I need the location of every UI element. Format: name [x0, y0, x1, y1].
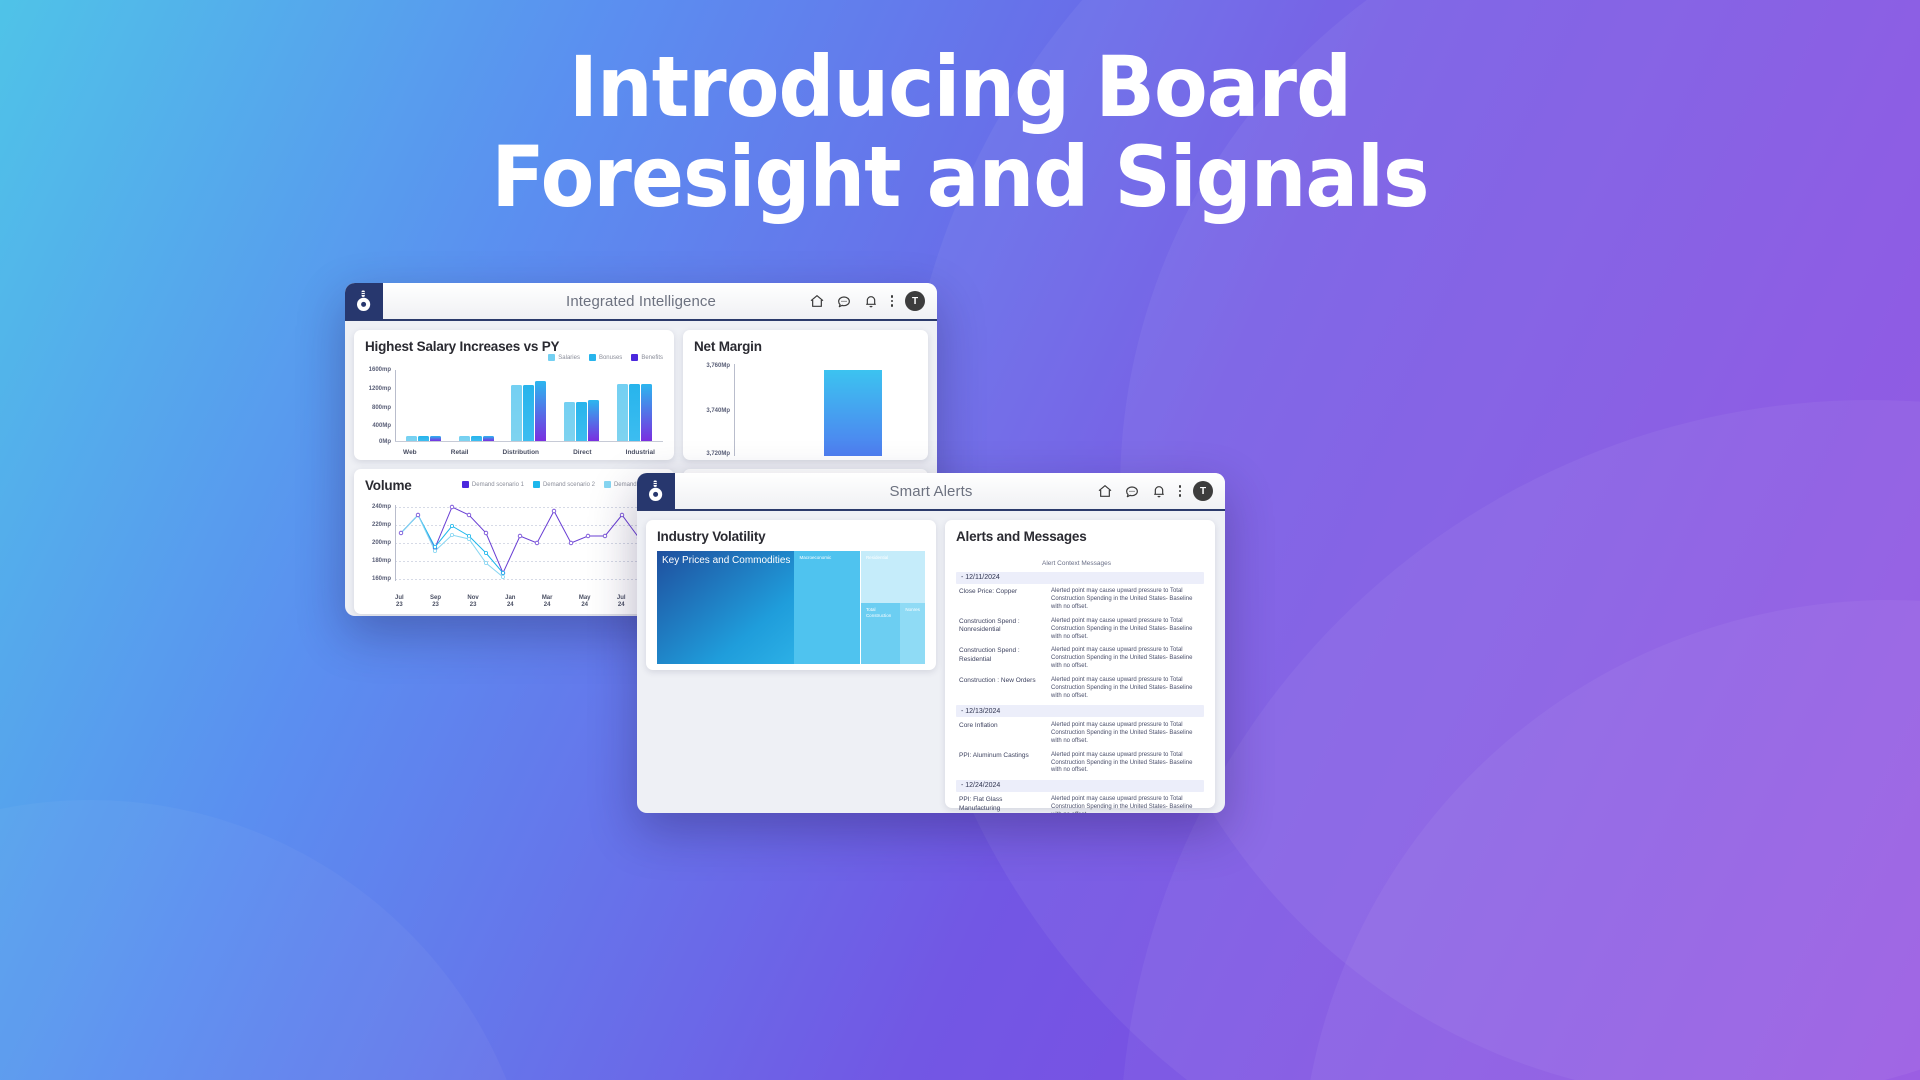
bar-benefits[interactable]: [483, 436, 494, 441]
legend-swatch: [604, 481, 611, 488]
avatar[interactable]: T: [1193, 481, 1213, 501]
titlebar-actions: T: [1097, 481, 1225, 501]
y-tick: 160mp: [372, 576, 391, 582]
table-row[interactable]: Construction Spend : Nonresidential Aler…: [956, 615, 1204, 645]
legend-swatch: [589, 354, 596, 361]
y-tick: 200mp: [372, 540, 391, 546]
overflow-menu-icon[interactable]: [1178, 485, 1182, 497]
alert-message: Alerted point may cause upward pressure …: [1051, 677, 1204, 701]
avatar[interactable]: T: [905, 291, 925, 311]
alert-date-group[interactable]: - 12/11/2024: [956, 572, 1204, 584]
titlebar-actions: T: [809, 291, 937, 311]
alert-name: PPI: Aluminum Castings: [959, 752, 1045, 776]
x-axis-categories: Jul23 Sep23 Nov23 Jan24 Mar24 May24 Jul2…: [395, 595, 663, 609]
y-tick: 1600mp: [369, 367, 391, 373]
home-icon[interactable]: [809, 293, 825, 309]
home-icon[interactable]: [1097, 483, 1113, 499]
y-tick: 400Mp: [372, 423, 391, 429]
alert-message: Alerted point may cause upward pressure …: [1051, 647, 1204, 671]
alert-message: Alerted point may cause upward pressure …: [1051, 618, 1204, 642]
legend-item: Bonuses: [589, 354, 622, 361]
y-axis: 1600mp 1200mp 800mp 400Mp 0Mp: [365, 368, 395, 444]
x-tick: May24: [579, 595, 591, 609]
alert-name: PPI: Flat Glass Manufacturing: [959, 796, 1045, 813]
y-axis: 3,760Mp 3,740Mp 3,720Mp: [694, 362, 734, 456]
bar-bonuses[interactable]: [576, 402, 587, 441]
treemap-label: Total Construction: [866, 607, 900, 618]
bar-group[interactable]: [459, 436, 494, 441]
plot-area: 1600mp 1200mp 800mp 400Mp 0Mp: [365, 368, 663, 444]
y-tick: 0Mp: [379, 439, 391, 445]
legend-swatch: [631, 354, 638, 361]
alert-message: Alerted point may cause upward pressure …: [1051, 752, 1204, 776]
card-title: Net Margin: [694, 339, 917, 354]
page-title: Introducing Board Foresight and Signals: [67, 46, 1853, 219]
treemap-label: Key Prices and Commodities: [662, 555, 790, 567]
x-tick: Web: [403, 449, 417, 456]
bar-bonuses[interactable]: [471, 436, 482, 441]
table-row[interactable]: Construction : New Orders Alerted point …: [956, 674, 1204, 704]
x-tick: Jul24: [617, 595, 626, 609]
bar-group[interactable]: [511, 381, 546, 441]
alert-message: Alerted point may cause upward pressure …: [1051, 722, 1204, 746]
background-swoosh: [1300, 600, 1920, 1080]
legend-item: Demand scenario 2: [533, 481, 595, 488]
alert-message: Alerted point may cause upward pressure …: [1051, 588, 1204, 612]
chart-legend: Demand scenario 1 Demand scenario 2 Dema…: [462, 481, 666, 488]
bar-group[interactable]: [406, 436, 441, 441]
bar-benefits[interactable]: [430, 436, 441, 441]
card-title: Alerts and Messages: [956, 529, 1204, 544]
bar-benefits[interactable]: [588, 400, 599, 441]
x-tick: Jan24: [505, 595, 515, 609]
x-tick: Direct: [573, 449, 591, 456]
treemap-cell[interactable]: Total Construction: [861, 603, 900, 664]
x-axis-categories: Web Retail Distribution Direct Industria…: [386, 449, 672, 456]
treemap-industry-volatility[interactable]: Key Prices and Commodities Macroeconomic…: [657, 551, 925, 664]
legend-label: Demand scenario 2: [543, 482, 595, 488]
y-tick: 1200mp: [369, 386, 391, 392]
table-row[interactable]: PPI: Flat Glass Manufacturing Alerted po…: [956, 793, 1204, 813]
treemap-label: Residential: [866, 555, 888, 560]
card-title: Highest Salary Increases vs PY: [365, 339, 559, 354]
x-tick: Retail: [451, 449, 469, 456]
legend-swatch: [533, 481, 540, 488]
legend-label: Salaries: [558, 355, 580, 361]
bell-icon[interactable]: [863, 293, 879, 309]
y-tick: 3,760Mp: [706, 363, 730, 369]
bar-salaries[interactable]: [406, 436, 417, 441]
treemap-label: Macroeconomic: [799, 555, 831, 560]
card-highest-salary-increases[interactable]: Highest Salary Increases vs PY Salaries …: [354, 330, 674, 460]
alert-name: Construction : New Orders: [959, 677, 1045, 701]
legend-label: Benefits: [641, 355, 663, 361]
plot-area: 3,760Mp 3,740Mp 3,720Mp: [694, 362, 917, 456]
y-tick: 800mp: [372, 405, 391, 411]
bar-net-margin[interactable]: [824, 370, 882, 456]
x-tick: Sep23: [430, 595, 441, 609]
treemap-cell[interactable]: Nonres: [900, 603, 925, 664]
bell-icon[interactable]: [1151, 483, 1167, 499]
plot-area: 240mp 220mp 200mp 180mp 160mp: [365, 503, 663, 587]
chart-header: Highest Salary Increases vs PY: [365, 339, 663, 354]
bar-benefits[interactable]: [535, 381, 546, 441]
y-tick: 3,720Mp: [706, 451, 730, 457]
bar-bonuses[interactable]: [418, 436, 429, 441]
alert-date-group[interactable]: - 12/13/2024: [956, 705, 1204, 717]
table-row[interactable]: Core Inflation Alerted point may cause u…: [956, 719, 1204, 749]
titlebar: Smart Alerts T: [637, 473, 1225, 511]
bar-group[interactable]: [564, 400, 599, 441]
bar-salaries[interactable]: [564, 402, 575, 441]
card-industry-volatility[interactable]: Industry Volatility Key Prices and Commo…: [646, 520, 936, 670]
treemap-cell[interactable]: Residential: [861, 551, 925, 603]
y-tick: 180mp: [372, 558, 391, 564]
y-tick: 220mp: [372, 522, 391, 528]
treemap-cell[interactable]: Macroeconomic: [794, 551, 860, 664]
y-tick: 3,740Mp: [706, 408, 730, 414]
treemap-label: Nonres: [905, 607, 920, 612]
chat-icon[interactable]: [836, 293, 852, 309]
background-swoosh: [0, 800, 540, 1080]
table-row[interactable]: Close Price: Copper Alerted point may ca…: [956, 585, 1204, 615]
card-title: Industry Volatility: [657, 529, 925, 544]
bar-salaries[interactable]: [511, 385, 522, 441]
board-logo-icon: [637, 473, 675, 510]
bar-bonuses[interactable]: [629, 384, 640, 441]
column-header-alert-context: Alert Context Messages: [1042, 558, 1111, 570]
window-smart-alerts[interactable]: Smart Alerts T: [637, 473, 1225, 813]
card-volume[interactable]: Volume Demand scenario 1 Demand scenario…: [354, 469, 674, 614]
x-axis-line: [395, 441, 663, 442]
overflow-menu-icon[interactable]: [890, 295, 894, 307]
headline-line-2: Foresight and Signals: [67, 136, 1853, 218]
alert-name: Construction Spend : Residential: [959, 647, 1045, 671]
x-tick: Distribution: [503, 449, 539, 456]
legend-item: Salaries: [548, 354, 580, 361]
x-tick: Jul23: [395, 595, 404, 609]
table-row[interactable]: PPI: Aluminum Castings Alerted point may…: [956, 749, 1204, 779]
x-tick: Mar24: [542, 595, 553, 609]
legend-label: Bonuses: [599, 355, 622, 361]
y-axis-line: [734, 364, 735, 456]
legend-item: Demand scenario 1: [462, 481, 524, 488]
card-net-margin[interactable]: Net Margin 3,760Mp 3,740Mp 3,720Mp: [683, 330, 928, 460]
background-swoosh: [1120, 400, 1920, 1080]
y-axis: 240mp 220mp 200mp 180mp 160mp: [365, 503, 395, 587]
alert-date-group[interactable]: - 12/24/2024: [956, 780, 1204, 792]
x-tick: Nov23: [467, 595, 478, 609]
x-tick: Industrial: [626, 449, 655, 456]
legend-swatch: [548, 354, 555, 361]
table-row[interactable]: Construction Spend : Residential Alerted…: [956, 644, 1204, 674]
titlebar: Integrated Intelligence: [345, 283, 937, 321]
bar-group[interactable]: [617, 384, 652, 441]
chat-icon[interactable]: [1124, 483, 1140, 499]
bar-benefits[interactable]: [641, 384, 652, 441]
bar-series: [397, 370, 661, 441]
card-alerts-and-messages[interactable]: Alerts and Messages Alert Context Messag…: [945, 520, 1215, 808]
bar-salaries[interactable]: [459, 436, 470, 441]
legend-item: Benefits: [631, 354, 663, 361]
y-tick: 240mp: [372, 504, 391, 510]
bar-salaries[interactable]: [617, 384, 628, 441]
alert-name: Close Price: Copper: [959, 588, 1045, 612]
alert-name: Construction Spend : Nonresidential: [959, 618, 1045, 642]
line-series: [395, 503, 661, 587]
chart-legend: Salaries Bonuses Benefits: [548, 354, 663, 361]
board-logo-icon: [345, 283, 383, 320]
treemap-cell[interactable]: Key Prices and Commodities: [657, 551, 794, 664]
headline-line-1: Introducing Board: [569, 38, 1351, 136]
y-axis-line: [395, 370, 396, 442]
legend-label: Demand scenario 1: [472, 482, 524, 488]
bar-bonuses[interactable]: [523, 385, 534, 441]
alerts-body: Industry Volatility Key Prices and Commo…: [637, 511, 1225, 813]
alert-name: Core Inflation: [959, 722, 1045, 746]
alert-message: Alerted point may cause upward pressure …: [1051, 796, 1204, 813]
legend-swatch: [462, 481, 469, 488]
